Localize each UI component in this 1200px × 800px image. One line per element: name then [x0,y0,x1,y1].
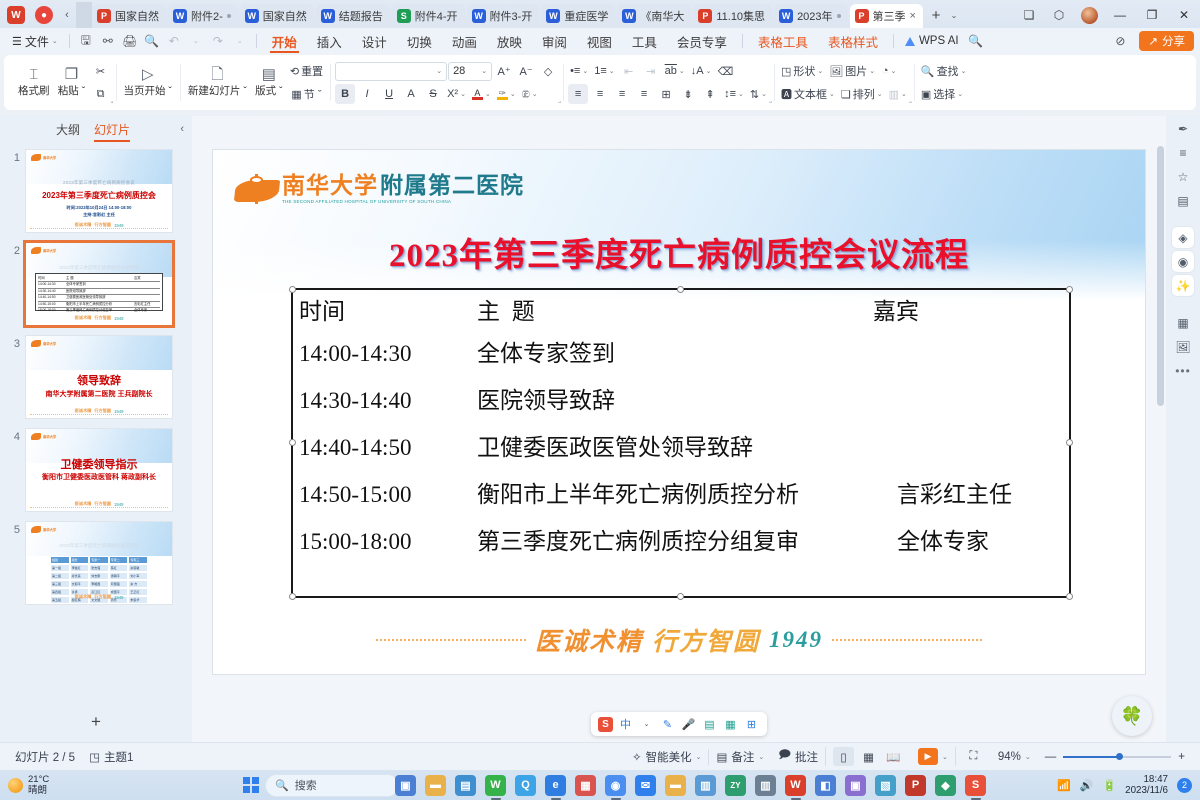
tab-review[interactable]: 审阅 [532,29,577,53]
font-dialog-launcher[interactable]: ⟓ [558,98,561,106]
battery-icon[interactable]: 🔋 [1102,779,1116,792]
redo-icon[interactable]: ↷ [207,30,229,52]
cell-topic: 卫健委医政医管处领导致辞 [477,428,897,462]
comments-button[interactable]: 🗩 批注 [771,747,825,766]
tab-tools[interactable]: 工具 [622,29,667,53]
cell: 专家二 [109,556,129,564]
system-tray: 📶 🔊 🔋 18:47 2023/11/6 2 [1057,774,1192,796]
thumb-footer: 医诚术精 行方智圆 1949 [32,222,166,228]
slide-number: 1 [6,149,20,164]
start-button[interactable] [243,777,259,793]
char-effects-icon: ㊣ [522,89,530,100]
clear-format-icon[interactable]: ◇ [538,61,558,81]
document-tab[interactable]: W 《南华大 [617,4,691,28]
notes-button[interactable]: ▤ 备注 ⌄ [708,749,771,765]
cell: 时间 [38,276,64,281]
cell: 刘志刚 [89,572,109,580]
insert-dialog-launcher[interactable]: ⟓ [909,98,912,106]
list-item[interactable]: 4 南华大学 卫健委领导指示 衡阳市卫健委医政医管科 蒋政副科长 医诚术精 行方… [0,425,192,518]
split-view-icon[interactable]: ❏ [1014,2,1044,28]
start-from-current-slide-button[interactable]: ▷ 当页开始 ˇ [121,66,175,99]
print-icon[interactable]: 🖨 [119,30,141,52]
feather-icon[interactable]: ✒ [1172,118,1194,139]
close-button[interactable]: ✕ [1168,2,1200,28]
paste-icon: ❐ [65,67,78,82]
cell-topic: 医院领导致辞 [477,381,817,415]
decrease-indent-button[interactable]: ⇤ [619,61,639,81]
document-tab[interactable]: W 附件2- [168,4,238,28]
green-icon[interactable]: ◆ [935,775,956,796]
divider [893,34,894,48]
insert-row-1: ◳形状⌄ 🖼图片⌄ ◔⌄ [779,61,909,81]
thumb-title: 卫健委领导指示 [26,456,172,472]
align-left-button[interactable]: ≡ [568,84,588,104]
font-size-input[interactable]: 28 ⌄ [448,62,492,81]
resize-handle-top-left[interactable] [289,286,296,293]
magic-wand-icon[interactable]: ✨ [1172,275,1194,296]
vertical-scrollbar[interactable] [1157,146,1164,702]
thumb-footer: 医诚术精 行方智圆 1949 [32,501,166,507]
motto2-mini: 行方智圆 [94,501,111,507]
chrome-icon[interactable]: ◉ [605,775,626,796]
smartart-button[interactable]: ◔⌄ [879,61,899,81]
cell: 全体专家签到 [66,282,132,287]
pen-icon[interactable]: ✎ [659,715,676,733]
copy-icon[interactable]: ⧉ [91,84,111,104]
print-preview-icon[interactable]: 🔍 [141,30,163,52]
notification-badge[interactable]: 2 [1177,778,1192,793]
increase-indent-button[interactable]: ⇥ [641,61,661,81]
tab-table-styles[interactable]: 表格样式 [818,29,888,53]
char-effects-button[interactable]: ㊣⌄ [520,84,540,104]
mic-icon[interactable]: 🎤 [680,715,697,733]
motto2-mini: 行方智圆 [94,408,111,414]
document-tab-active[interactable]: P 第三季 × [850,4,923,28]
select-button[interactable]: ▣选择⌄ [919,84,965,104]
cell: 文丽平 [70,580,90,588]
clear-formatting-button[interactable]: ⌫ [715,61,735,81]
fit-to-window-icon[interactable]: ⛶ [963,747,984,766]
calc-icon[interactable]: ▥ [755,775,776,796]
layout-label: 版式 ˇ [255,83,282,98]
font-color-button[interactable]: A ⌄ [470,84,493,104]
tab-label: 重症医学 [564,8,608,24]
qq-icon[interactable]: Q [515,775,536,796]
zoom-out-button[interactable]: — [1038,751,1064,763]
normal-view-icon[interactable]: ▯ [833,747,854,766]
cell: 卫健委医政医管处领导致辞 [66,295,132,300]
volume-icon[interactable]: 🔊 [1080,779,1094,792]
word-icon: W [245,9,259,23]
paragraph-dialog-launcher[interactable]: ⟓ [769,98,772,106]
word-icon: W [622,9,636,23]
cell: 组长 [70,556,90,564]
cut-icon[interactable]: ✂ [91,61,111,81]
motto1-mini: 医诚术精 [75,408,92,414]
wechat-icon[interactable]: W [485,775,506,796]
slide-canvas[interactable]: 南华大学 附属第二医院 THE SECOND AFFILIATED HOSPIT… [213,150,1145,674]
cell: 余 方 [128,580,148,588]
resize-handle-top-center[interactable] [677,286,684,293]
cell [134,282,160,287]
tab-outline[interactable]: 大纲 [56,121,80,138]
tab-transitions[interactable]: 切换 [397,29,442,53]
fit-to-window-button[interactable]: ⛶ [955,747,991,766]
chevron-down-icon[interactable]: ⌄ [481,67,487,75]
file-explorer-icon[interactable]: ▬ [425,775,446,796]
chevron-down-icon[interactable]: ⌄ [436,67,442,75]
underline-button[interactable]: U [379,84,399,104]
resize-handle-bottom-right[interactable] [1066,593,1073,600]
slide-thumbnail[interactable]: 南华大学 领导致辞 南华大学附属第二医院 王兵副院长 医诚术精 行方智圆 194… [25,335,173,419]
slide-number: 4 [6,428,20,443]
motto2-mini: 行方智圆 [94,222,111,228]
slide-thumbnail[interactable]: 南华大学 2023年第三季度死亡病例质控会议 2023年第三季度死亡病例质控会 … [25,149,173,233]
hospital-logo: 南华大学 [31,154,56,161]
motto2-mini: 行方智圆 [94,594,111,600]
paste-button[interactable]: ❐ 粘贴 ˇ [55,66,89,99]
document-tab[interactable]: W 重症医学 [541,4,615,28]
chevron-down-icon: ⌄ [758,753,764,761]
current-slide[interactable]: 南华大学 附属第二医院 THE SECOND AFFILIATED HOSPIT… [213,150,1145,674]
add-slide-button[interactable]: + [0,702,192,742]
chart-icon[interactable]: ▥ [695,775,716,796]
document-tab[interactable]: P 11.10集思 [693,4,772,28]
stats-icon[interactable]: ▧ [875,775,896,796]
document-tab[interactable]: W 国家自然 [240,4,314,28]
document-tab[interactable]: S 附件4-开 [392,4,465,28]
find-label: 查找 [937,63,959,79]
undo-icon[interactable]: ↶ [163,30,185,52]
sort-button[interactable]: ↓A⌄ [689,61,714,81]
thumbnail-list[interactable]: 1 南华大学 2023年第三季度死亡病例质控会议 2023年第三季度死亡病例质控… [0,142,192,702]
wps-logo[interactable]: W [2,2,30,28]
text-direction-button[interactable]: ⇅⌄ [748,84,769,104]
tab-design[interactable]: 设计 [352,29,397,53]
wps-ai-button[interactable]: WPS AI [899,35,965,47]
motto1-mini: 医诚术精 [75,222,92,228]
slide-thumbnail-selected[interactable]: 南华大学 2023年第三季度死亡病例质控会议流程 时间主 题嘉宾 14:00-1… [25,242,173,326]
cell: 组别 [50,556,70,564]
wifi-icon[interactable]: 📶 [1057,779,1071,792]
ribbon: ⌶ 格式刷 ❐ 粘贴 ˇ ✂ ⧉ ⟓ ▷ 当页开始 ˇ 🗋 新建幻灯片 ˇ [4,55,1196,110]
cell-topic: 第三季度死亡病例质控分组复审 [477,522,897,556]
thumb-sub1: 时间:2023年10月24日 14:00-18:00 [26,205,172,211]
apps-icon[interactable]: ▦ [1172,312,1194,333]
ribbon-group-insert: ◳形状⌄ 🖼图片⌄ ◔⌄ 🅰文本框⌄ ❏排列⌄ ▥⌄ ⟓ [774,58,914,107]
insert-row-2: 🅰文本框⌄ ❏排列⌄ ▥⌄ [779,84,909,104]
app3-icon[interactable]: ▣ [845,775,866,796]
picture-button[interactable]: 🖼图片⌄ [827,61,877,81]
eraser-icon[interactable]: ▤ [701,715,718,733]
thumb-sub2: 主持:言彩红 主任 [26,212,172,218]
notes-label: 备注 [731,749,754,765]
redo-caret-icon[interactable]: ⌄ [229,30,251,52]
slide-thumbnail[interactable]: 南华大学 2023年第三季度死亡病例质控会议流程 组别组长专家一专家二专家三 第… [25,521,173,605]
chevron-down-icon[interactable]: ⌄ [947,2,961,28]
avatar[interactable] [1074,2,1104,28]
clover-assistant-button[interactable]: 🍀 [1112,696,1152,736]
file-menu-button[interactable]: ☰ 文件 ⌄ [6,30,64,52]
chevron-down-icon[interactable]: ⌄ [638,715,655,733]
tab-slides[interactable]: 幻灯片 [94,121,130,138]
search-input[interactable]: 🔍 搜索 [266,775,398,796]
arrange-label: 排列 [853,86,875,102]
find-button[interactable]: 🔍查找⌄ [919,61,969,81]
text-direction-icon: ⇅ [750,88,759,101]
hospital-name: 南华大学 附属第二医院 THE SECOND AFFILIATED HOSPIT… [282,174,524,204]
layout-button[interactable]: ▤ 版式 ˇ [252,66,286,99]
star-icon[interactable]: ☆ [1172,166,1194,187]
unsaved-dot-icon [227,14,231,18]
font-name-input[interactable]: ⌄ [335,62,447,81]
reset-label: 重置 [301,63,323,79]
play-icon[interactable]: ▶ [918,748,938,765]
document-tab[interactable]: W 附件3-开 [467,4,540,28]
cell: 李相国 [89,580,109,588]
hospital-name-cn2: 附属第二医院 [380,174,524,198]
bold-button[interactable]: B [335,84,355,104]
clipboard-icon[interactable]: ▤ [1172,190,1194,211]
text-shadow-button[interactable]: A [401,84,421,104]
tab-view[interactable]: 视图 [577,29,622,53]
clipboard-dialog-launcher[interactable]: ⟓ [110,98,113,106]
align-center-button[interactable]: ≡ [590,84,610,104]
cell: 主 题 [66,276,132,281]
resize-handle-middle-right[interactable] [1066,439,1073,446]
protect-icon[interactable]: ⊘ [1109,30,1131,52]
chevron-down-icon[interactable]: ⌄ [942,753,948,761]
strikethrough-button[interactable]: S [423,84,443,104]
close-icon[interactable]: × [910,10,916,22]
year-mini: 1949 [114,502,123,507]
italic-button[interactable]: I [357,84,377,104]
table-icon[interactable]: ⊞ [743,715,760,733]
section-reset-column: ⟲ 重置 ▦ 节 ˇ [288,61,325,104]
new-slide-button[interactable]: 🗋 新建幻灯片 ˇ [185,66,250,99]
tab-insert[interactable]: 插入 [307,29,352,53]
chevron-down-icon: ⌄ [696,753,702,761]
cell [134,295,160,300]
list-item[interactable]: 1 南华大学 2023年第三季度死亡病例质控会议 2023年第三季度死亡病例质控… [0,146,192,239]
zoom-slider-knob[interactable] [1116,753,1123,760]
clock[interactable]: 18:47 2023/11/6 [1125,774,1168,796]
pdf-icon[interactable]: P [905,775,926,796]
weather-widget[interactable]: 21°C 晴朗 [0,774,49,796]
list-item[interactable]: 2 南华大学 2023年第三季度死亡病例质控会议流程 时间主 题嘉宾 14:00… [0,239,192,332]
bird-icon [31,247,41,254]
tab-table-tools[interactable]: 表格工具 [748,29,818,53]
save-icon[interactable]: 🖫 [75,30,97,52]
thumb-sub1: 衡阳市卫健委医政医管科 蒋政副科长 [26,472,172,482]
distributed-align-button[interactable]: ⊞ [656,84,676,104]
resize-handle-bottom-left[interactable] [289,593,296,600]
window-tab-bar: W ● ‹ P 国家自然 W 附件2- W 国家自然 W 结题报告 S 附件4-… [0,0,1200,28]
table-row: 14:50-15:00 衡阳市上半年死亡病例质控分析 言彩红主任 [299,475,1069,522]
list-item[interactable]: 5 南华大学 2023年第三季度死亡病例质控会议流程 组别组长专家一专家二专家三… [0,518,192,611]
cell: 谭朝平 [109,572,129,580]
pdf-icon: P [97,9,111,23]
translate-icon[interactable]: 中 [617,715,634,733]
scrollbar-thumb[interactable] [1157,146,1164,406]
taskbar-center: 🔍 搜索 [243,775,398,796]
bullets-button[interactable]: •≡⌄ [568,61,590,81]
numbering-button[interactable]: 1≡⌄ [592,61,616,81]
search-icon[interactable]: 🔍 [965,30,987,52]
cell-time: 14:50-15:00 [299,482,477,508]
sun-icon [8,778,23,793]
beautify-icon: ✧ [632,750,642,764]
tab-label: 结题报告 [339,8,383,24]
section-button[interactable]: ▦ 节 ˇ [288,84,325,104]
cell: 15:00-18:00 [38,308,64,313]
zy-icon[interactable]: ZY [725,775,746,796]
reset-icon: ⟲ [290,65,299,78]
share-button[interactable]: ↗ 分享 [1139,31,1194,51]
wps-presentation-window: W ● ‹ P 国家自然 W 附件2- W 国家自然 W 结题报告 S 附件4-… [0,0,1200,770]
document-tab[interactable]: W 结题报告 [316,4,390,28]
thumb-footer: 医诚术精 行方智圆 1949 [32,594,166,600]
resize-handle-middle-left[interactable] [289,439,296,446]
cell: 专家三 [128,556,148,564]
placeholder-button[interactable]: ▥⌄ [887,84,909,104]
beautify-label: 智能美化 [646,749,692,765]
browser-icon[interactable]: e [545,775,566,796]
cloud-sync-icon[interactable]: ⚯ [97,30,119,52]
cell-guest: 言彩红主任 [897,475,1012,509]
hospital-logo: 南华大学 [31,247,56,254]
superscript-button[interactable]: X²⌄ [445,84,468,104]
app-icon[interactable]: ▦ [575,775,596,796]
more-icon[interactable]: ••• [1172,360,1194,381]
reading-view-icon[interactable]: 📖 [883,747,904,766]
decrease-font-size-icon[interactable]: A⁻ [516,61,536,81]
theme-indicator[interactable]: ◳ 主题1 [82,749,140,765]
share-label: 分享 [1162,33,1185,49]
wps-cloud-icon[interactable]: S [965,775,986,796]
collapse-pane-icon[interactable]: ‹ [180,123,184,135]
minimize-button[interactable]: — [1104,2,1136,28]
spreadsheet-icon: S [397,9,411,23]
smart-beautify-button[interactable]: ✧ 智能美化 ⌄ [625,749,709,765]
picture-icon: 🖼 [829,65,843,78]
reset-button[interactable]: ⟲ 重置 [288,61,325,81]
list-icon[interactable]: ≡ [1172,142,1194,163]
superscript-label: X² [447,88,458,100]
design-ideas-icon[interactable]: ◉ [1172,251,1194,272]
agenda-textbox-selected[interactable]: 时间 主 题 嘉宾 14:00-14:30 全体专家签到 14:30-14:40 [291,288,1071,598]
layers-icon[interactable]: ◈ [1172,227,1194,248]
slide-sorter-icon[interactable]: ▦ [858,747,879,766]
comment-icon: 🗩 [778,747,791,766]
format-painter-button[interactable]: ⌶ 格式刷 [15,66,53,99]
divider [256,34,257,48]
tab-member[interactable]: 会员专享 [667,29,737,53]
justify-button[interactable]: ≡ [634,84,654,104]
increase-font-size-icon[interactable]: A⁺ [494,61,514,81]
store-icon[interactable]: ▤ [455,775,476,796]
list-item[interactable]: 3 南华大学 领导致辞 南华大学附属第二医院 王兵副院长 医诚术精 行方智圆 [0,332,192,425]
wps-icon[interactable]: W [785,775,806,796]
thumb-faint-line: 2023年第三季度死亡病例质控会议 [26,180,172,186]
hospital-name-mini: 南华大学 [43,434,56,439]
align-right-button[interactable]: ≡ [612,84,632,104]
zoom-in-button[interactable]: + [1171,751,1192,763]
line-spacing-button[interactable]: ↕≡⌄ [722,84,746,104]
resize-handle-bottom-center[interactable] [677,593,684,600]
cell: 余思敏 [128,564,148,572]
tab-label: 11.10集思 [716,8,765,24]
arrange-button[interactable]: ❏排列⌄ [839,84,885,104]
undo-caret-icon[interactable]: ⌄ [185,30,207,52]
zoom-slider[interactable] [1063,751,1171,763]
slide-footer: 医诚术精 行方智圆 1949 [213,622,1145,658]
document-tab[interactable]: W 2023年 [774,4,847,28]
thumb-title: 2023年第三季度死亡病例质控会议流程 [26,543,172,549]
floating-toolbar[interactable]: S 中 ⌄ ✎ 🎤 ▤ ▦ ⊞ [591,712,767,736]
image-icon[interactable]: 🖼 [1172,336,1194,357]
bird-icon [235,174,279,204]
taskview-icon[interactable]: ▣ [395,775,416,796]
clover-icon: 🍀 [1121,706,1143,727]
cell-time: 14:00-14:30 [299,341,477,367]
tab-home[interactable]: 开始 [262,29,307,53]
tab-scroll-handle[interactable] [76,2,92,28]
new-tab-button[interactable]: + [925,2,947,28]
play-button-group[interactable]: ▶ ⌄ [911,748,955,765]
ppt-icon: P [855,9,869,23]
pinyin-button[interactable]: ab⌄ [663,61,687,81]
shape-icon: ◳ [781,65,791,78]
cube-icon[interactable]: ⬡ [1044,2,1074,28]
hospital-name-mini: 南华大学 [43,155,56,160]
decrease-line-spacing-button[interactable]: ⇟ [678,84,698,104]
tab-label: 附件2- [191,8,223,24]
document-tab[interactable]: P 国家自然 [92,4,166,28]
ribbon-group-slides: 🗋 新建幻灯片 ˇ ▤ 版式 ˇ ⟲ 重置 ▦ 节 ˇ [180,58,330,107]
tab-animations[interactable]: 动画 [442,29,487,53]
windows-taskbar: 21°C 晴朗 🔍 搜索 ▣ ▬ ▤ W Q e ▦ ◉ ✉ ▬ ▥ ZY ▥ … [0,770,1200,800]
tab-slideshow[interactable]: 放映 [487,29,532,53]
tab-label: 2023年 [797,8,832,24]
slide-counter: 幻灯片 2 / 5 [8,749,82,765]
docer-logo[interactable]: ● [30,2,58,28]
unsaved-dot-icon [837,14,841,18]
grid-icon[interactable]: ▦ [722,715,739,733]
folder-icon[interactable]: ▬ [665,775,686,796]
wps-ai-icon[interactable]: S [598,717,613,732]
slide-thumbnail[interactable]: 南华大学 卫健委领导指示 衡阳市卫健委医政医管科 蒋政副科长 医诚术精 行方智圆… [25,428,173,512]
tab-scroll-left-icon[interactable]: ‹ [58,2,76,28]
resize-handle-top-right[interactable] [1066,286,1073,293]
hospital-logo: 南华大学 [31,433,56,440]
zoom-level[interactable]: 94% ⌄ [991,751,1038,763]
highlight-color-button[interactable]: ✑ ⌄ [495,84,518,104]
bird-icon [31,433,41,440]
editing-controls: 🔍查找⌄ ▣选择⌄ [919,61,969,104]
shape-button[interactable]: ◳形状⌄ [779,61,825,81]
mail-icon[interactable]: ✉ [635,775,656,796]
textbox-button[interactable]: 🅰文本框⌄ [779,84,837,104]
app2-icon[interactable]: ◧ [815,775,836,796]
thumb-grid: 组别组长专家一专家二专家三 第一组李俊红张志强陈红余思敏 第二组廖长亮刘志刚谭朝… [50,556,148,588]
share-icon: ↗ [1148,34,1158,48]
font-color-label: A [474,89,480,97]
increase-line-spacing-button[interactable]: ⇞ [700,84,720,104]
ribbon-tab-bar: ☰ 文件 ⌄ 🖫 ⚯ 🖨 🔍 ↶ ⌄ ↷ ⌄ 开始 插入 设计 切换 动画 放映… [0,28,1200,54]
section-label: 节 ˇ [304,86,322,102]
maximize-button[interactable]: ❐ [1136,2,1168,28]
